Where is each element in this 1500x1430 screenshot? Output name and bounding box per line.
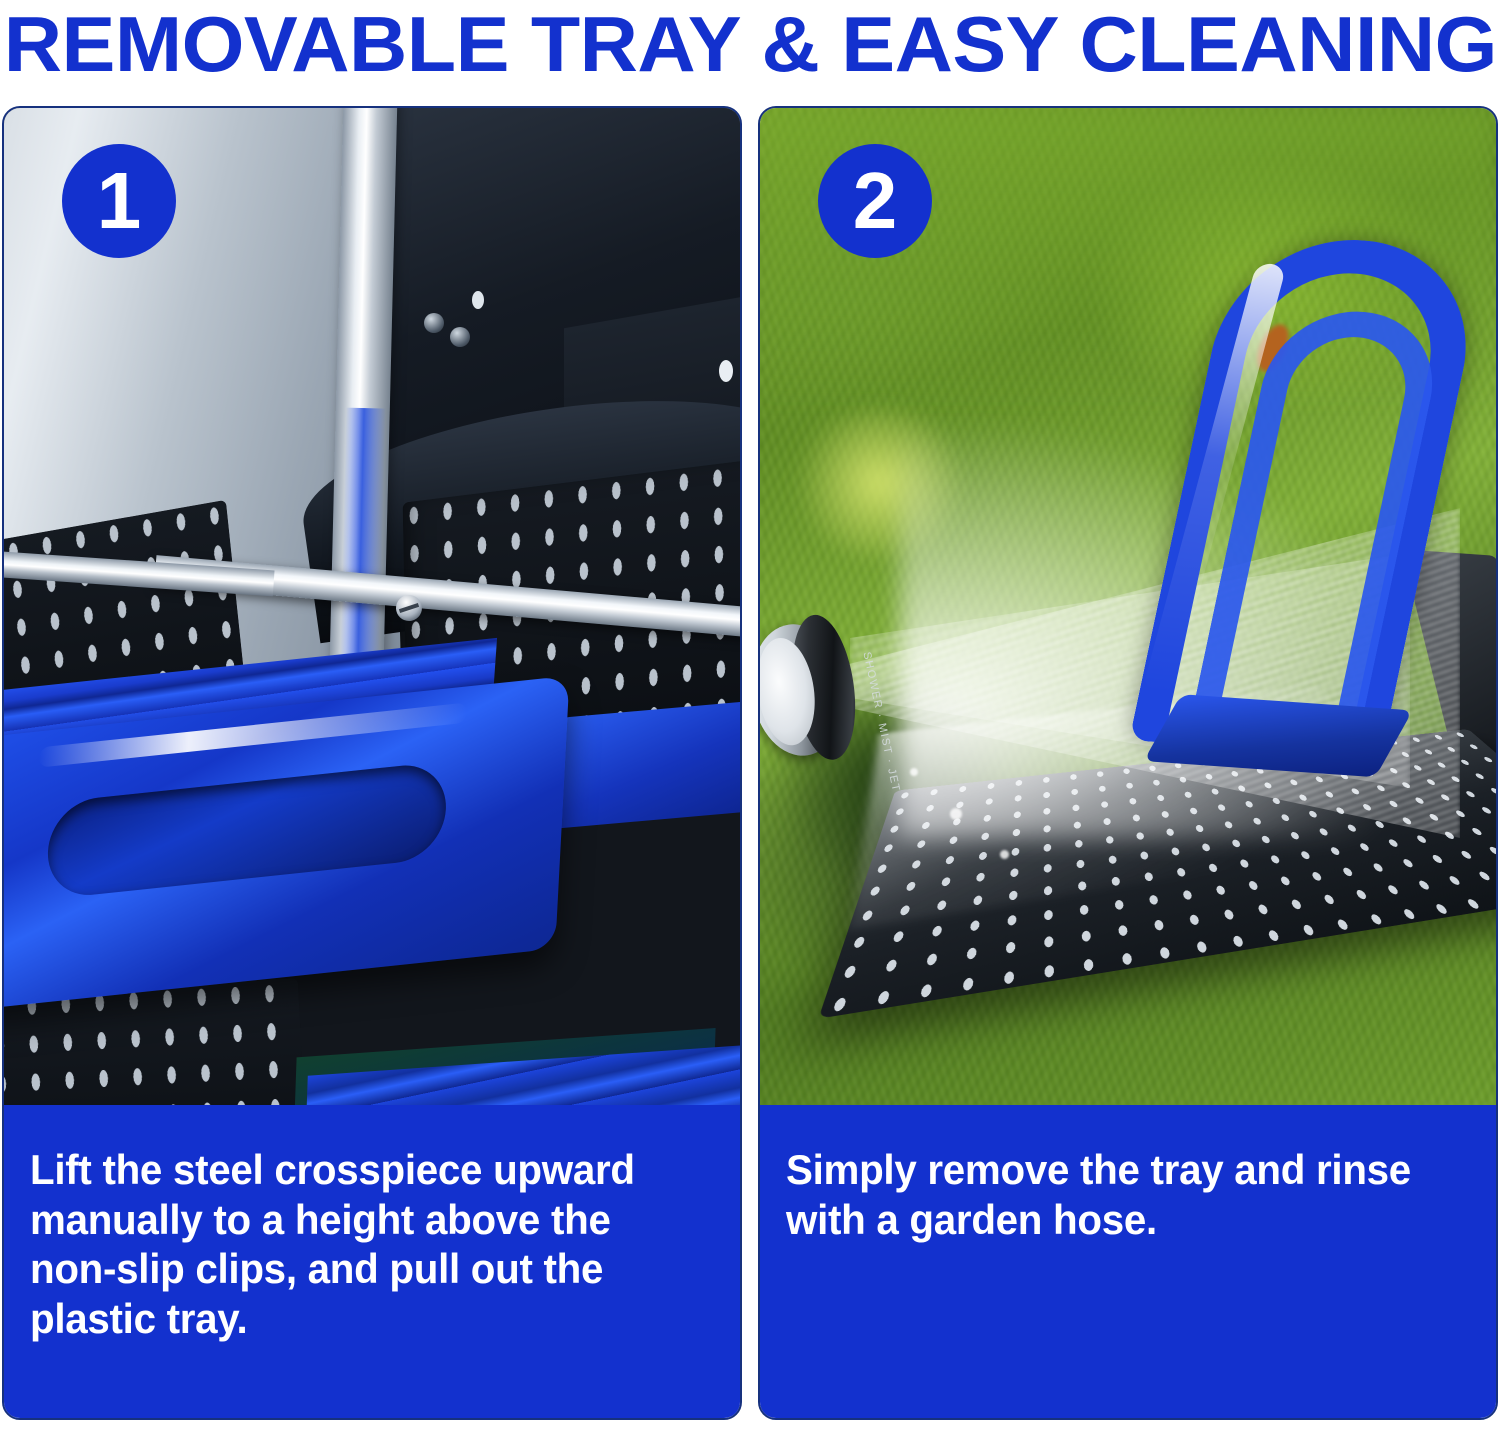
step-panels: 1 Lift the steel crosspiece upward manua… bbox=[0, 106, 1500, 1426]
water-droplet bbox=[1000, 850, 1009, 859]
step-1-caption-box: Lift the steel crosspiece upward manuall… bbox=[4, 1105, 740, 1418]
blue-handle-lug-right bbox=[538, 696, 740, 830]
step-badge-2: 2 bbox=[818, 144, 932, 258]
blue-tray-handle bbox=[4, 676, 570, 1011]
water-droplet bbox=[950, 808, 962, 820]
hose-nozzle: SHOWER · MIST · JET bbox=[760, 608, 882, 771]
infographic-page: REMOVABLE TRAY & EASY CLEANING bbox=[0, 0, 1500, 1430]
step-badge-1: 1 bbox=[62, 144, 176, 258]
water-droplet bbox=[910, 768, 918, 776]
step-2-caption-box: Simply remove the tray and rinse with a … bbox=[760, 1105, 1496, 1418]
hinge-bolts bbox=[424, 313, 480, 347]
step-2-caption-text: Simply remove the tray and rinse with a … bbox=[786, 1145, 1439, 1244]
step-1-caption-text: Lift the steel crosspiece upward manuall… bbox=[30, 1145, 683, 1343]
step-panel-2: SHOWER · MIST · JET 2 Simply remove the … bbox=[758, 106, 1498, 1420]
page-title: REMOVABLE TRAY & EASY CLEANING bbox=[3, 5, 1496, 83]
step-1-photo: 1 bbox=[4, 108, 740, 1105]
handle-foot bbox=[1144, 694, 1413, 777]
step-panel-1: 1 Lift the steel crosspiece upward manua… bbox=[2, 106, 742, 1420]
page-title-bar: REMOVABLE TRAY & EASY CLEANING bbox=[0, 0, 1500, 92]
rivet-highlight-1 bbox=[719, 360, 733, 382]
rivet-highlight-2 bbox=[472, 291, 484, 309]
step-2-photo: SHOWER · MIST · JET 2 bbox=[760, 108, 1496, 1105]
